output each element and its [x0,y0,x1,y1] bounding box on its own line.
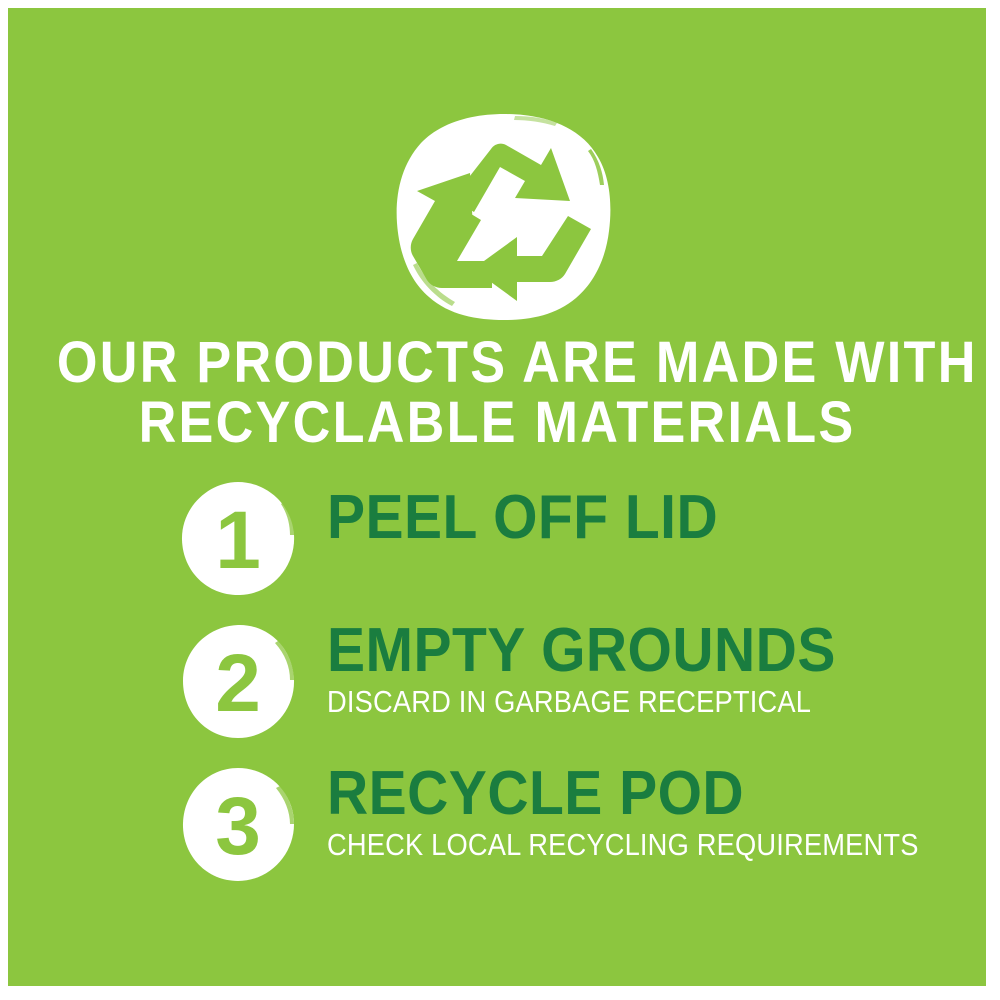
step-subtitle-2: DISCARD IN GARBAGE RECEPTICAL [327,685,898,719]
headline-line-2: RECYCLABLE MATERIALS [57,393,937,453]
page-title: OUR PRODUCTS ARE MADE WITH RECYCLABLE MA… [8,333,986,453]
step-title-3: RECYCLE POD [327,762,924,826]
step-number-3: 3 [215,781,261,872]
step-title-1: PEEL OFF LID [327,486,924,550]
headline-line-1: OUR PRODUCTS ARE MADE WITH [57,333,937,393]
step-item-2: 2 EMPTY GROUNDS DISCARD IN GARBAGE RECEP… [8,623,986,766]
step-number-badge-2: 2 [180,623,297,740]
step-content-2: EMPTY GROUNDS DISCARD IN GARBAGE RECEPTI… [327,623,976,719]
step-number-badge-1: 1 [180,480,297,597]
recycling-instructions-poster: OUR PRODUCTS ARE MADE WITH RECYCLABLE MA… [8,8,986,986]
steps-list: 1 PEEL OFF LID 2 [8,480,986,909]
step-number-2: 2 [215,638,261,729]
step-content-3: RECYCLE POD CHECK LOCAL RECYCLING REQUIR… [327,766,976,862]
step-item-1: 1 PEEL OFF LID [8,480,986,623]
step-number-badge-3: 3 [180,766,297,883]
step-item-3: 3 RECYCLE POD CHECK LOCAL RECYCLING REQU… [8,766,986,909]
step-subtitle-3: CHECK LOCAL RECYCLING REQUIREMENTS [327,828,898,862]
recycle-icon [395,113,613,321]
step-title-2: EMPTY GROUNDS [327,619,924,683]
step-content-1: PEEL OFF LID [327,480,976,550]
step-number-1: 1 [215,495,261,586]
